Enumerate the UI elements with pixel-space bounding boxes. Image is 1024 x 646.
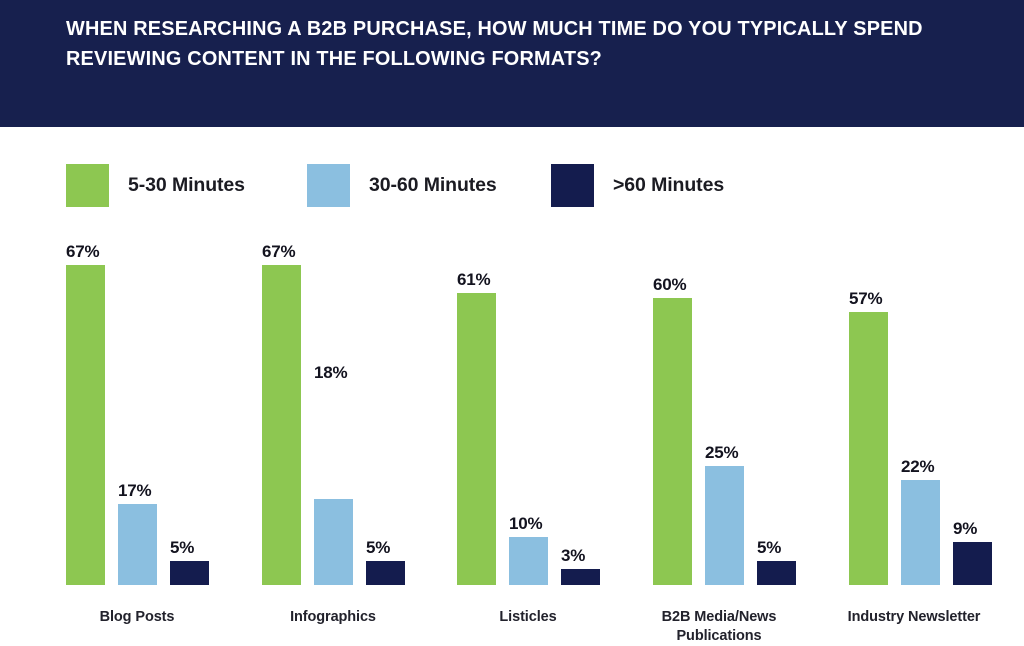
bar-rect <box>757 561 796 585</box>
bar-value-label: 67% <box>262 242 295 262</box>
bar-value-label: 61% <box>457 270 490 290</box>
bar-rect <box>366 561 405 585</box>
category-label-b2b-media-news-publications: B2B Media/News Publications <box>614 608 824 646</box>
bar-industry-newsletter-5-30[interactable]: 57% <box>849 312 888 585</box>
bar-rect <box>561 569 600 585</box>
bar-listicles-over-60[interactable]: 3% <box>561 569 600 585</box>
bar-infographics-over-60[interactable]: 5% <box>366 561 405 585</box>
bar-rect <box>849 312 888 585</box>
bar-rect <box>653 298 692 585</box>
bar-rect <box>314 499 353 585</box>
bar-blog-posts-over-60[interactable]: 5% <box>170 561 209 585</box>
bar-value-label: 57% <box>849 289 882 309</box>
bar-value-label: 25% <box>705 443 738 463</box>
bar-value-label: 9% <box>953 519 977 539</box>
bar-rect <box>509 537 548 585</box>
bar-rect <box>457 293 496 585</box>
bar-infographics-30-60[interactable]: 18% <box>314 499 353 585</box>
bar-listicles-30-60[interactable]: 10% <box>509 537 548 585</box>
bar-blog-posts-5-30[interactable]: 67% <box>66 265 105 585</box>
bar-value-label: 18% <box>314 363 347 383</box>
category-label-infographics: Infographics <box>228 608 438 627</box>
bar-value-label: 5% <box>366 538 390 558</box>
bar-b2b-media-30-60[interactable]: 25% <box>705 466 744 585</box>
bar-b2b-media-over-60[interactable]: 5% <box>757 561 796 585</box>
bar-rect <box>66 265 105 585</box>
bar-rect <box>953 542 992 585</box>
bar-rect <box>262 265 301 585</box>
bar-value-label: 60% <box>653 275 686 295</box>
bar-value-label: 5% <box>757 538 781 558</box>
bar-value-label: 5% <box>170 538 194 558</box>
bar-rect <box>901 480 940 585</box>
bar-rect <box>170 561 209 585</box>
bar-value-label: 67% <box>66 242 99 262</box>
bar-value-label: 3% <box>561 546 585 566</box>
bar-rect <box>118 504 157 585</box>
bar-infographics-5-30[interactable]: 67% <box>262 265 301 585</box>
bar-value-label: 17% <box>118 481 151 501</box>
bar-b2b-media-5-30[interactable]: 60% <box>653 298 692 585</box>
bar-value-label: 10% <box>509 514 542 534</box>
category-label-listicles: Listicles <box>423 608 633 627</box>
bar-chart-plot-area: 67% 17% 5% Blog Posts 67% 18% 5% Infogra… <box>0 0 1024 639</box>
bar-listicles-5-30[interactable]: 61% <box>457 293 496 585</box>
category-label-blog-posts: Blog Posts <box>32 608 242 627</box>
bar-industry-newsletter-over-60[interactable]: 9% <box>953 542 992 585</box>
bar-value-label: 22% <box>901 457 934 477</box>
bar-blog-posts-30-60[interactable]: 17% <box>118 504 157 585</box>
category-label-industry-newsletter: Industry Newsletter <box>809 608 1019 627</box>
bar-rect <box>705 466 744 585</box>
bar-industry-newsletter-30-60[interactable]: 22% <box>901 480 940 585</box>
